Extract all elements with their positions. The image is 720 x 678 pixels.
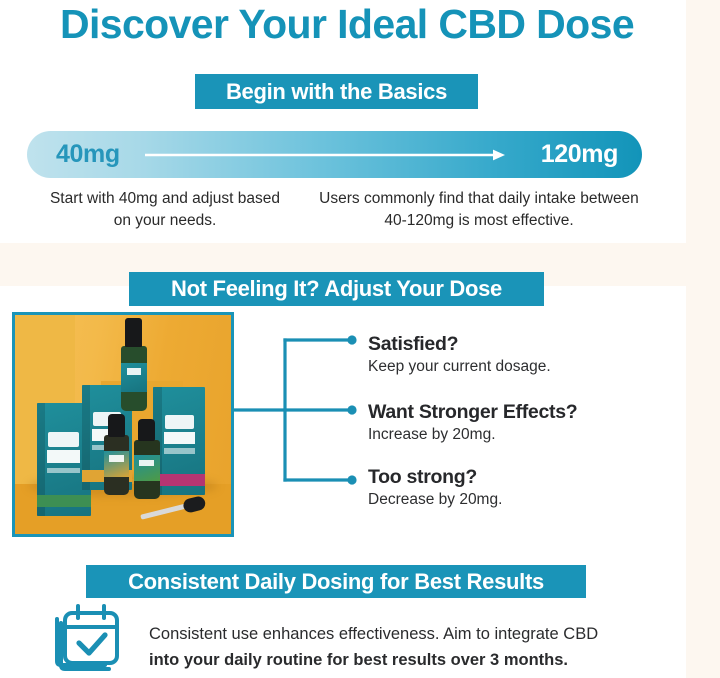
box-subtitle bbox=[164, 448, 195, 453]
bottle-logo bbox=[109, 455, 124, 461]
adjust-option-desc: Decrease by 20mg. bbox=[368, 491, 502, 509]
arrow-right-icon bbox=[145, 149, 505, 161]
product-box-berry bbox=[153, 387, 205, 494]
section-header-basics-label: Begin with the Basics bbox=[226, 79, 447, 105]
bracket-dot bbox=[347, 405, 356, 414]
bracket-dot bbox=[347, 475, 356, 484]
product-dropper-bottle-citrus bbox=[104, 435, 130, 494]
bottle-label bbox=[104, 451, 130, 477]
adjust-option-satisfied: Satisfied? Keep your current dosage. bbox=[368, 333, 551, 376]
dropper-cap bbox=[138, 419, 155, 441]
check-mark-icon bbox=[79, 635, 105, 653]
spray-cap bbox=[125, 318, 142, 347]
adjust-option-stronger: Want Stronger Effects? Increase by 20mg. bbox=[368, 401, 577, 444]
adjust-option-too-strong: Too strong? Decrease by 20mg. bbox=[368, 466, 502, 509]
adjust-option-title: Want Stronger Effects? bbox=[368, 401, 577, 424]
bottle-label bbox=[121, 363, 147, 392]
dose-range-bar: 40mg 120mg bbox=[27, 131, 642, 178]
bracket-connector-icon bbox=[234, 330, 362, 490]
section-header-consistent-label: Consistent Daily Dosing for Best Results bbox=[128, 569, 544, 595]
bottle-label bbox=[134, 455, 160, 481]
paragraph-line-1: Consistent use enhances effectiveness. A… bbox=[149, 625, 598, 643]
adjust-option-title: Satisfied? bbox=[368, 333, 551, 356]
caption-start-dose: Start with 40mg and adjust based on your… bbox=[40, 188, 290, 233]
dropper-cap bbox=[108, 414, 125, 436]
box-flavour-band bbox=[37, 495, 91, 508]
product-spray-bottle bbox=[121, 346, 147, 412]
section-header-basics: Begin with the Basics bbox=[195, 74, 478, 109]
bracket-dot bbox=[347, 335, 356, 344]
adjust-option-title: Too strong? bbox=[368, 466, 502, 489]
page-title: Discover Your Ideal CBD Dose bbox=[12, 2, 682, 48]
product-dropper-bottle-natural bbox=[134, 440, 160, 499]
dose-end-label: 120mg bbox=[541, 140, 618, 169]
consistent-dosing-paragraph: Consistent use enhances effectiveness. A… bbox=[149, 622, 669, 673]
dose-start-label: 40mg bbox=[56, 140, 120, 169]
box-subtitle bbox=[47, 468, 79, 474]
caption-common-intake: Users commonly find that daily intake be… bbox=[310, 188, 648, 233]
bottle-logo bbox=[127, 368, 142, 375]
section-header-consistent: Consistent Daily Dosing for Best Results bbox=[86, 565, 586, 598]
section-header-adjust: Not Feeling It? Adjust Your Dose bbox=[129, 272, 544, 306]
box-flavour-band bbox=[153, 474, 205, 486]
box-logo bbox=[165, 415, 194, 429]
bottle-logo bbox=[139, 460, 154, 466]
section-header-adjust-label: Not Feeling It? Adjust Your Dose bbox=[171, 276, 502, 302]
paragraph-line-2: into your daily routine for best results… bbox=[149, 648, 669, 674]
product-photo bbox=[12, 312, 234, 537]
adjust-option-desc: Increase by 20mg. bbox=[368, 426, 577, 444]
box-wordmark bbox=[47, 450, 79, 463]
box-logo bbox=[48, 432, 78, 447]
calendar-check-icon bbox=[47, 603, 131, 675]
box-wordmark bbox=[164, 432, 195, 444]
adjust-option-desc: Keep your current dosage. bbox=[368, 358, 551, 376]
